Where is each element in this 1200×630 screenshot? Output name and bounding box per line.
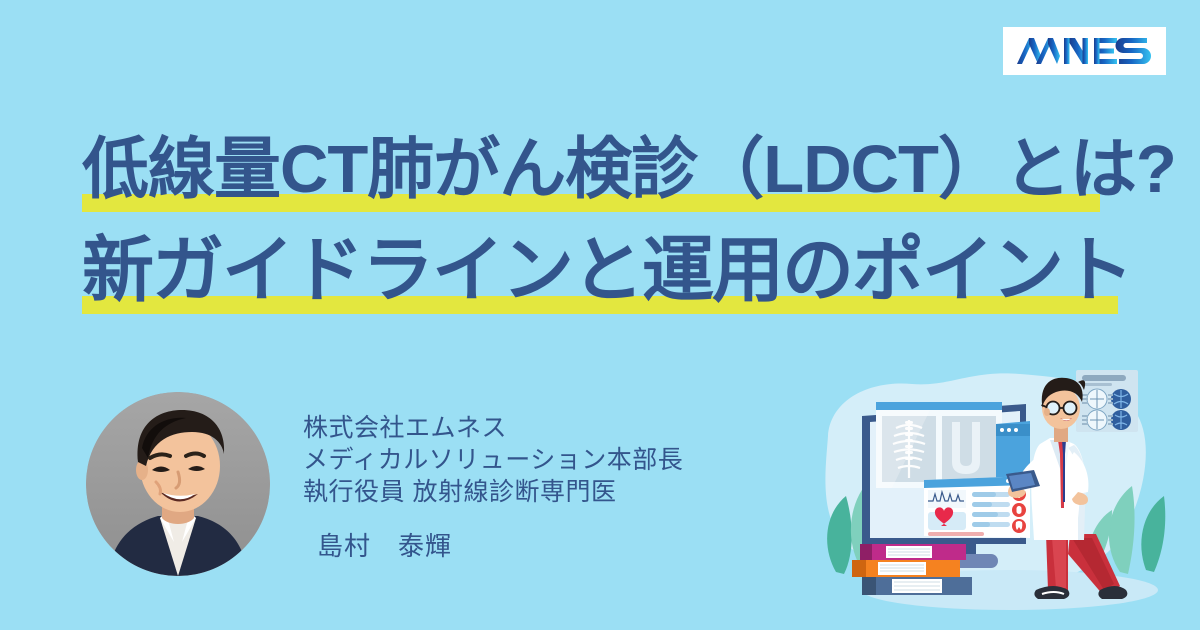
title-text-1: 低線量CT肺がん検診（LDCT）とは? xyxy=(82,136,1176,203)
title-line-1: 低線量CT肺がん検診（LDCT）とは? xyxy=(0,118,1200,220)
presenter-name: 島村 泰輝 xyxy=(317,530,683,562)
mnes-logo xyxy=(1015,34,1155,68)
mnes-logo-box xyxy=(1003,27,1166,75)
title-text-2: 新ガイドラインと運用のポイント xyxy=(82,235,1132,307)
presenter-info: 株式会社エムネス メディカルソリューション本部長 執行役員 放射線診断専門医 島… xyxy=(303,412,683,562)
illustration-svg xyxy=(820,358,1200,630)
book-stack xyxy=(852,544,972,595)
presenter-company: 株式会社エムネス xyxy=(303,412,683,444)
radiology-doctor-illustration xyxy=(820,358,1200,630)
presenter-portrait xyxy=(86,392,270,576)
presenter-division: メディカルソリューション本部長 xyxy=(303,444,683,476)
presenter-avatar xyxy=(86,392,270,576)
presenter-role: 執行役員 放射線診断専門医 xyxy=(303,476,683,508)
title-line-2: 新ガイドラインと運用のポイント xyxy=(0,220,1200,322)
title-block: 低線量CT肺がん検診（LDCT）とは? 新ガイドラインと運用のポイント xyxy=(0,118,1200,322)
brain-scan-panel xyxy=(1076,370,1138,432)
